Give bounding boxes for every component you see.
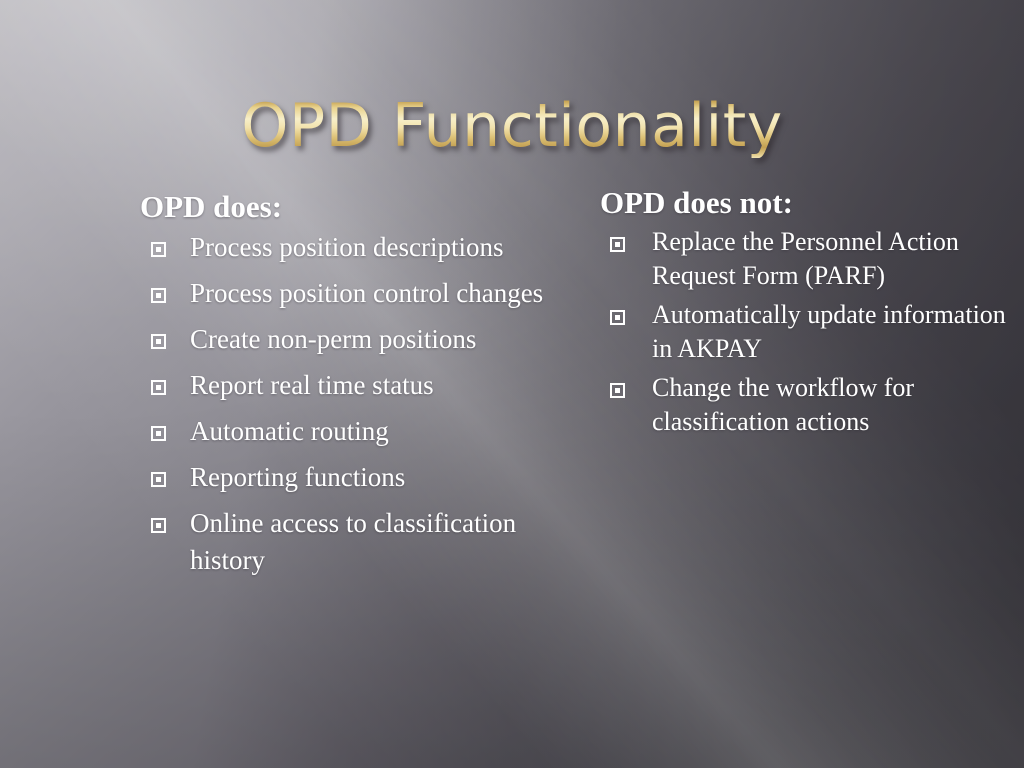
list-item: Change the workflow for classification a… [600,371,1010,439]
left-column-bullet-list: Process position descriptions Process po… [140,229,560,579]
list-item: Create non-perm positions [140,321,560,358]
list-item: Process position descriptions [140,229,560,266]
list-item: Automatically update information in AKPA… [600,298,1010,366]
list-item-label: Change the workflow for classification a… [652,371,1010,439]
square-bullet-icon [151,426,166,441]
square-bullet-icon [610,310,625,325]
list-item-label: Process position control changes [190,275,560,312]
square-bullet-icon [151,288,166,303]
list-item-label: Replace the Personnel Action Request For… [652,225,1010,293]
left-column-heading: OPD does: [140,190,560,225]
left-column: OPD does: Process position descriptions … [140,190,560,588]
list-item: Report real time status [140,367,560,404]
right-column-bullet-list: Replace the Personnel Action Request For… [600,225,1010,439]
list-item-label: Process position descriptions [190,229,560,266]
list-item-label: Report real time status [190,367,560,404]
list-item: Process position control changes [140,275,560,312]
square-bullet-icon [151,472,166,487]
list-item: Reporting functions [140,459,560,496]
slide-title-container: OPD Functionality [0,55,1024,135]
list-item-label: Automatic routing [190,413,560,450]
right-column-heading: OPD does not: [600,186,1010,221]
presentation-slide: OPD Functionality OPD does: Process posi… [0,0,1024,768]
list-item: Automatic routing [140,413,560,450]
square-bullet-icon [610,237,625,252]
list-item-label: Online access to classification history [190,505,560,579]
list-item: Online access to classification history [140,505,560,579]
list-item-label: Reporting functions [190,459,560,496]
list-item-label: Automatically update information in AKPA… [652,298,1010,366]
square-bullet-icon [151,380,166,395]
square-bullet-icon [151,334,166,349]
square-bullet-icon [151,518,166,533]
right-column: OPD does not: Replace the Personnel Acti… [600,186,1010,444]
list-item-label: Create non-perm positions [190,321,560,358]
page-title: OPD Functionality [241,95,783,158]
square-bullet-icon [151,242,166,257]
square-bullet-icon [610,383,625,398]
slide-content: OPD Functionality OPD does: Process posi… [0,0,1024,768]
list-item: Replace the Personnel Action Request For… [600,225,1010,293]
